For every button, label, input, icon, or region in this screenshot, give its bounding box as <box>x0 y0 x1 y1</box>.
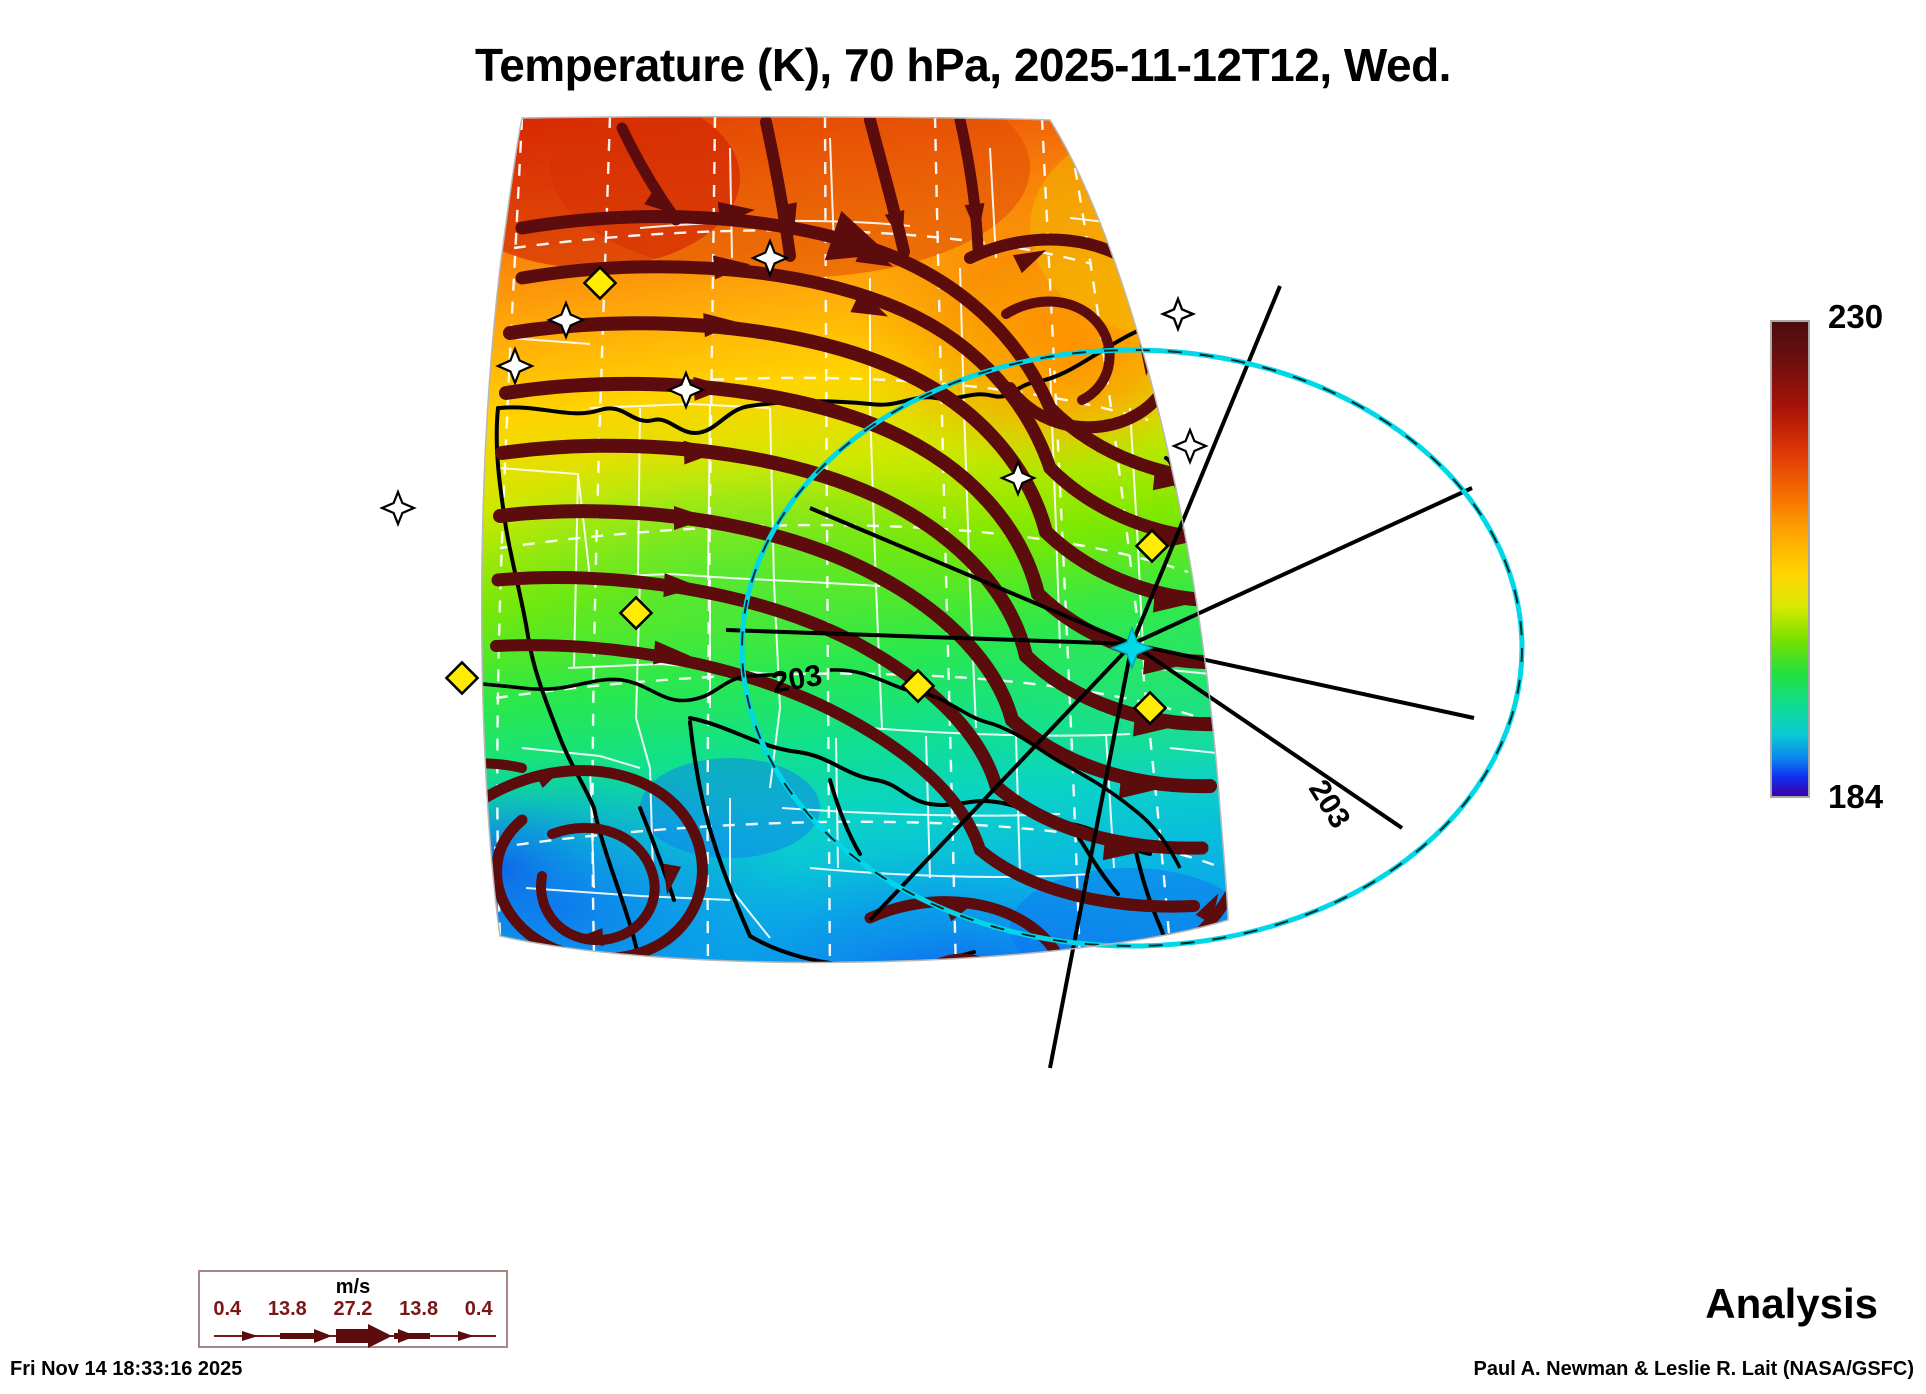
contour-label-203-east: 203 <box>1302 774 1357 834</box>
author-credit: Paul A. Newman & Leslie R. Lait (NASA/GS… <box>1474 1358 1914 1381</box>
colorbar-max-label: 230 <box>1828 298 1883 336</box>
wind-legend-arrows <box>200 1324 506 1348</box>
colorbar-min-label: 184 <box>1828 778 1883 816</box>
wind-speed-legend: m/s 0.413.827.213.80.4 <box>198 1270 508 1348</box>
wind-legend-value-2: 27.2 <box>334 1298 373 1321</box>
colorbar-gradient <box>1770 320 1810 798</box>
map-svg[interactable]: 203 203 <box>170 108 1570 1158</box>
wind-legend-unit: m/s <box>200 1276 506 1299</box>
page-title: Temperature (K), 70 hPa, 2025-11-12T12, … <box>0 38 1926 92</box>
wind-legend-value-1: 13.8 <box>268 1298 307 1321</box>
wind-legend-values: 0.413.827.213.80.4 <box>200 1298 506 1321</box>
analysis-label: Analysis <box>1705 1280 1878 1328</box>
render-timestamp: Fri Nov 14 18:33:16 2025 <box>10 1358 242 1381</box>
map-panel[interactable]: 203 203 <box>170 108 1570 1158</box>
colorbar[interactable] <box>1770 320 1810 798</box>
wind-legend-value-0: 0.4 <box>213 1298 241 1321</box>
wind-legend-value-3: 13.8 <box>399 1298 438 1321</box>
wind-legend-value-4: 0.4 <box>465 1298 493 1321</box>
